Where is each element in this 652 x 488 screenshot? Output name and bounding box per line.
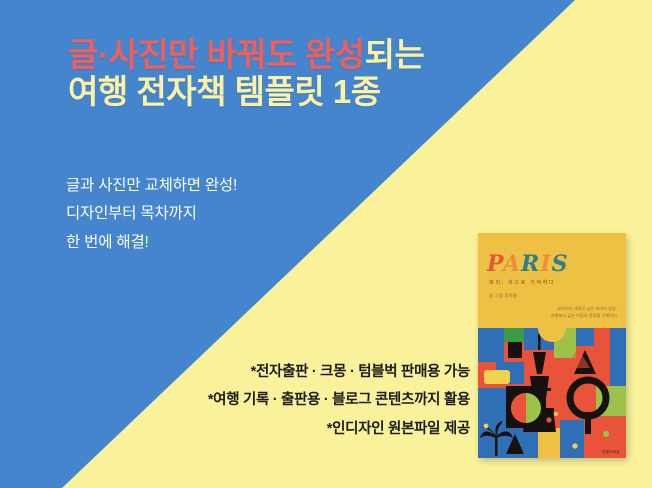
- bullet-item-2: *여행 기록 · 출판용 · 블로그 콘텐츠까지 활용: [208, 386, 470, 414]
- bullet-item-3: *인디자인 원본파일 제공: [208, 415, 470, 443]
- body-line-2: 디자인부터 목차까지: [66, 200, 237, 228]
- body-copy: 글과 사진만 교체하면 완성! 디자인부터 목차까지 한 번에 해결!: [66, 172, 237, 257]
- book-author: 글 그림 정여름: [489, 293, 517, 299]
- book-title: PARIS: [487, 251, 569, 277]
- body-line-3: 한 번에 해결!: [66, 229, 237, 257]
- book-subtitle: 파리, 색으로 기억하다: [489, 279, 555, 286]
- book-blurb-line-2: 여행보다 깊은 마음의 풍경을 기록하다: [551, 312, 617, 319]
- book-title-letter-r: R: [521, 251, 540, 277]
- poster-canvas: 글·사진만 바꿔도 완성되는 여행 전자책 템플릿 1종 글과 사진만 교체하면…: [0, 0, 652, 488]
- headline-line-1: 글·사진만 바꿔도 완성되는: [68, 38, 424, 72]
- book-title-letter-p: P: [487, 251, 503, 277]
- book-cover-illustration: 여름의바람: [478, 328, 626, 458]
- book-title-letter-s: S: [552, 251, 569, 277]
- book-title-letter-i: I: [540, 251, 551, 277]
- book-blurb: 골목마다 색깔로 남은 파리의 일상, 여행보다 깊은 마음의 풍경을 기록하다: [551, 305, 617, 319]
- book-blurb-line-1: 골목마다 색깔로 남은 파리의 일상,: [551, 305, 617, 312]
- headline-tail: 되는: [365, 36, 425, 73]
- page-title: 글·사진만 바꿔도 완성되는 여행 전자책 템플릿 1종: [68, 38, 424, 110]
- bullet-item-1: *전자출판 · 크몽 · 텀블벅 판매용 가능: [208, 358, 470, 386]
- body-line-1: 글과 사진만 교체하면 완성!: [66, 172, 237, 200]
- book-publisher: 여름의바람: [602, 449, 620, 454]
- book-title-letter-a: A: [503, 251, 521, 277]
- paris-abstract-art-svg: [478, 328, 626, 458]
- feature-bullet-list: *전자출판 · 크몽 · 텀블벅 판매용 가능 *여행 기록 · 출판용 · 블…: [208, 358, 470, 443]
- headline-highlight: 글·사진만 바꿔도 완성: [68, 36, 365, 73]
- headline-line-2: 여행 전자책 템플릿 1종: [68, 75, 424, 109]
- book-cover-mockup: PARIS 파리, 색으로 기억하다 글 그림 정여름 골목마다 색깔로 남은 …: [478, 233, 626, 458]
